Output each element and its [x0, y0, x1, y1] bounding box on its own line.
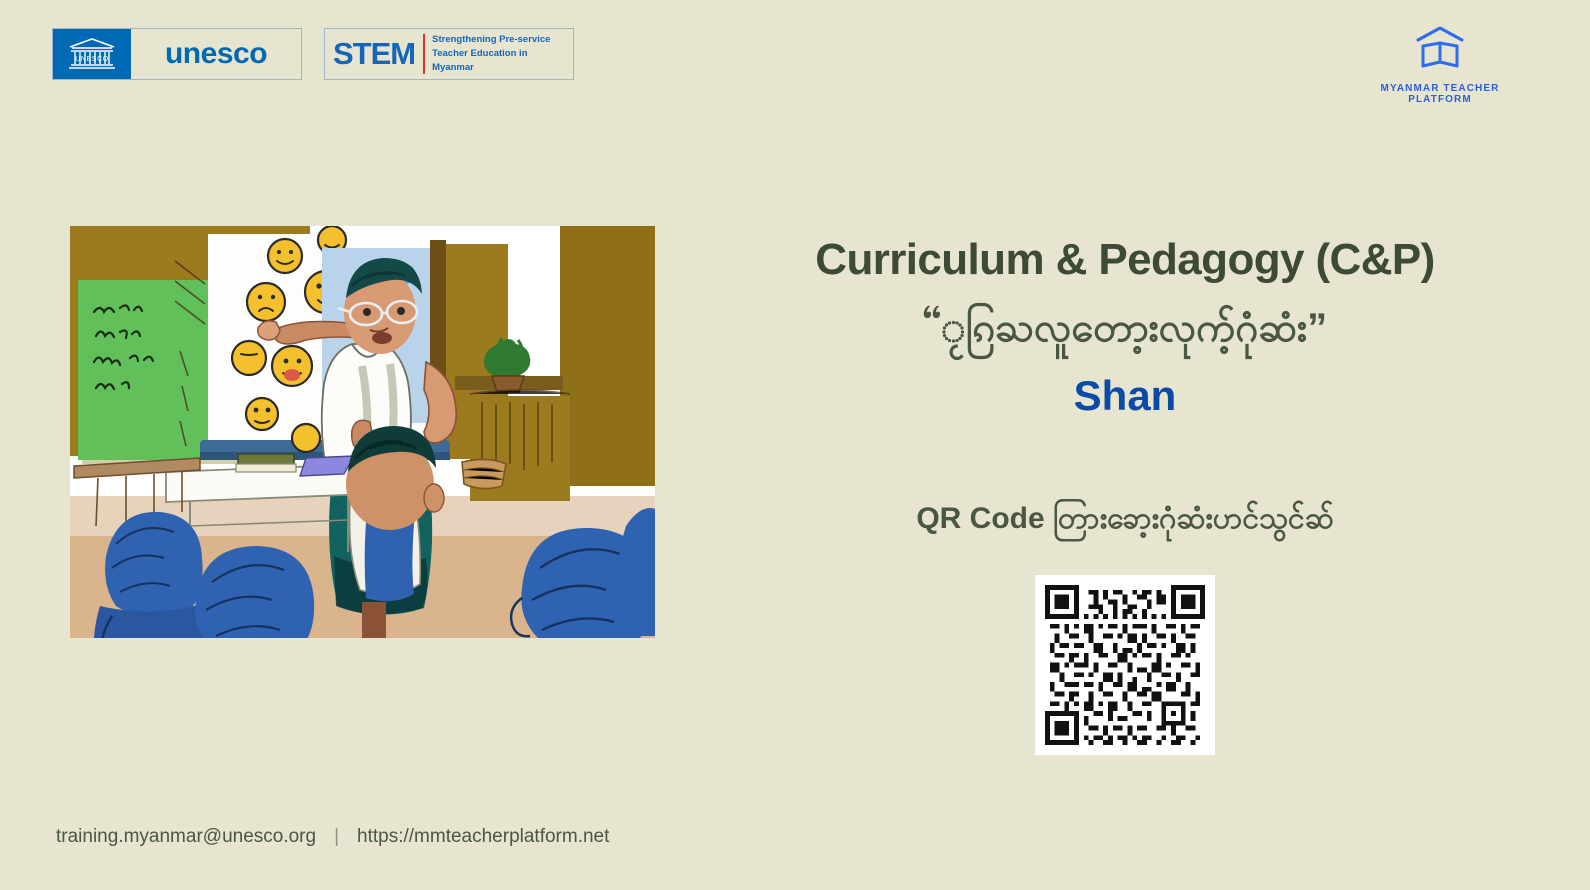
unesco-wordmark: unesco — [131, 29, 301, 79]
stem-tagline-line-3: Myanmar — [432, 62, 474, 73]
contact-email[interactable]: training.myanmar@unesco.org — [56, 826, 316, 848]
course-subtitle-shan: “ႂၵြႀလူတော့းလုက့်ဂုံဆံး” — [730, 304, 1520, 352]
stem-tagline-line-2: Teacher Education in — [432, 48, 527, 59]
platform-label: MYANMAR TEACHER PLATFORM — [1350, 83, 1530, 105]
language-label: Shan — [730, 372, 1520, 420]
unesco-logo: UNESCO unesco — [52, 28, 302, 80]
stem-tagline: Strengthening Pre-service Teacher Educat… — [432, 33, 550, 74]
stem-wordmark: STEM — [333, 36, 423, 72]
stem-logo: STEM Strengthening Pre-service Teacher E… — [324, 28, 574, 80]
page-footer: training.myanmar@unesco.org | https://mm… — [56, 826, 609, 848]
qr-code-caption: QR Code တြားခော့းဂုံဆံးပာင်သွင်ဆ် — [730, 498, 1520, 543]
open-book-house-icon — [1413, 24, 1467, 74]
svg-text:UNESCO: UNESCO — [75, 56, 109, 63]
stem-tagline-line-1: Strengthening Pre-service — [432, 34, 550, 45]
website-url[interactable]: https://mmteacherplatform.net — [357, 826, 609, 848]
qr-code-image — [1045, 585, 1205, 745]
footer-separator: | — [334, 826, 339, 848]
page-title: Curriculum & Pedagogy (C&P) — [730, 235, 1520, 286]
classroom-illustration — [70, 226, 655, 638]
unesco-temple-icon: UNESCO — [53, 29, 131, 79]
stem-divider — [423, 34, 425, 74]
myanmar-teacher-platform-logo: MYANMAR TEACHER PLATFORM — [1350, 24, 1530, 105]
main-content: Curriculum & Pedagogy (C&P) “ႂၵြႀလူတော့း… — [730, 235, 1520, 755]
qr-code[interactable] — [1035, 575, 1215, 755]
page-header: UNESCO unesco STEM Strengthening Pre-ser… — [0, 0, 1590, 110]
